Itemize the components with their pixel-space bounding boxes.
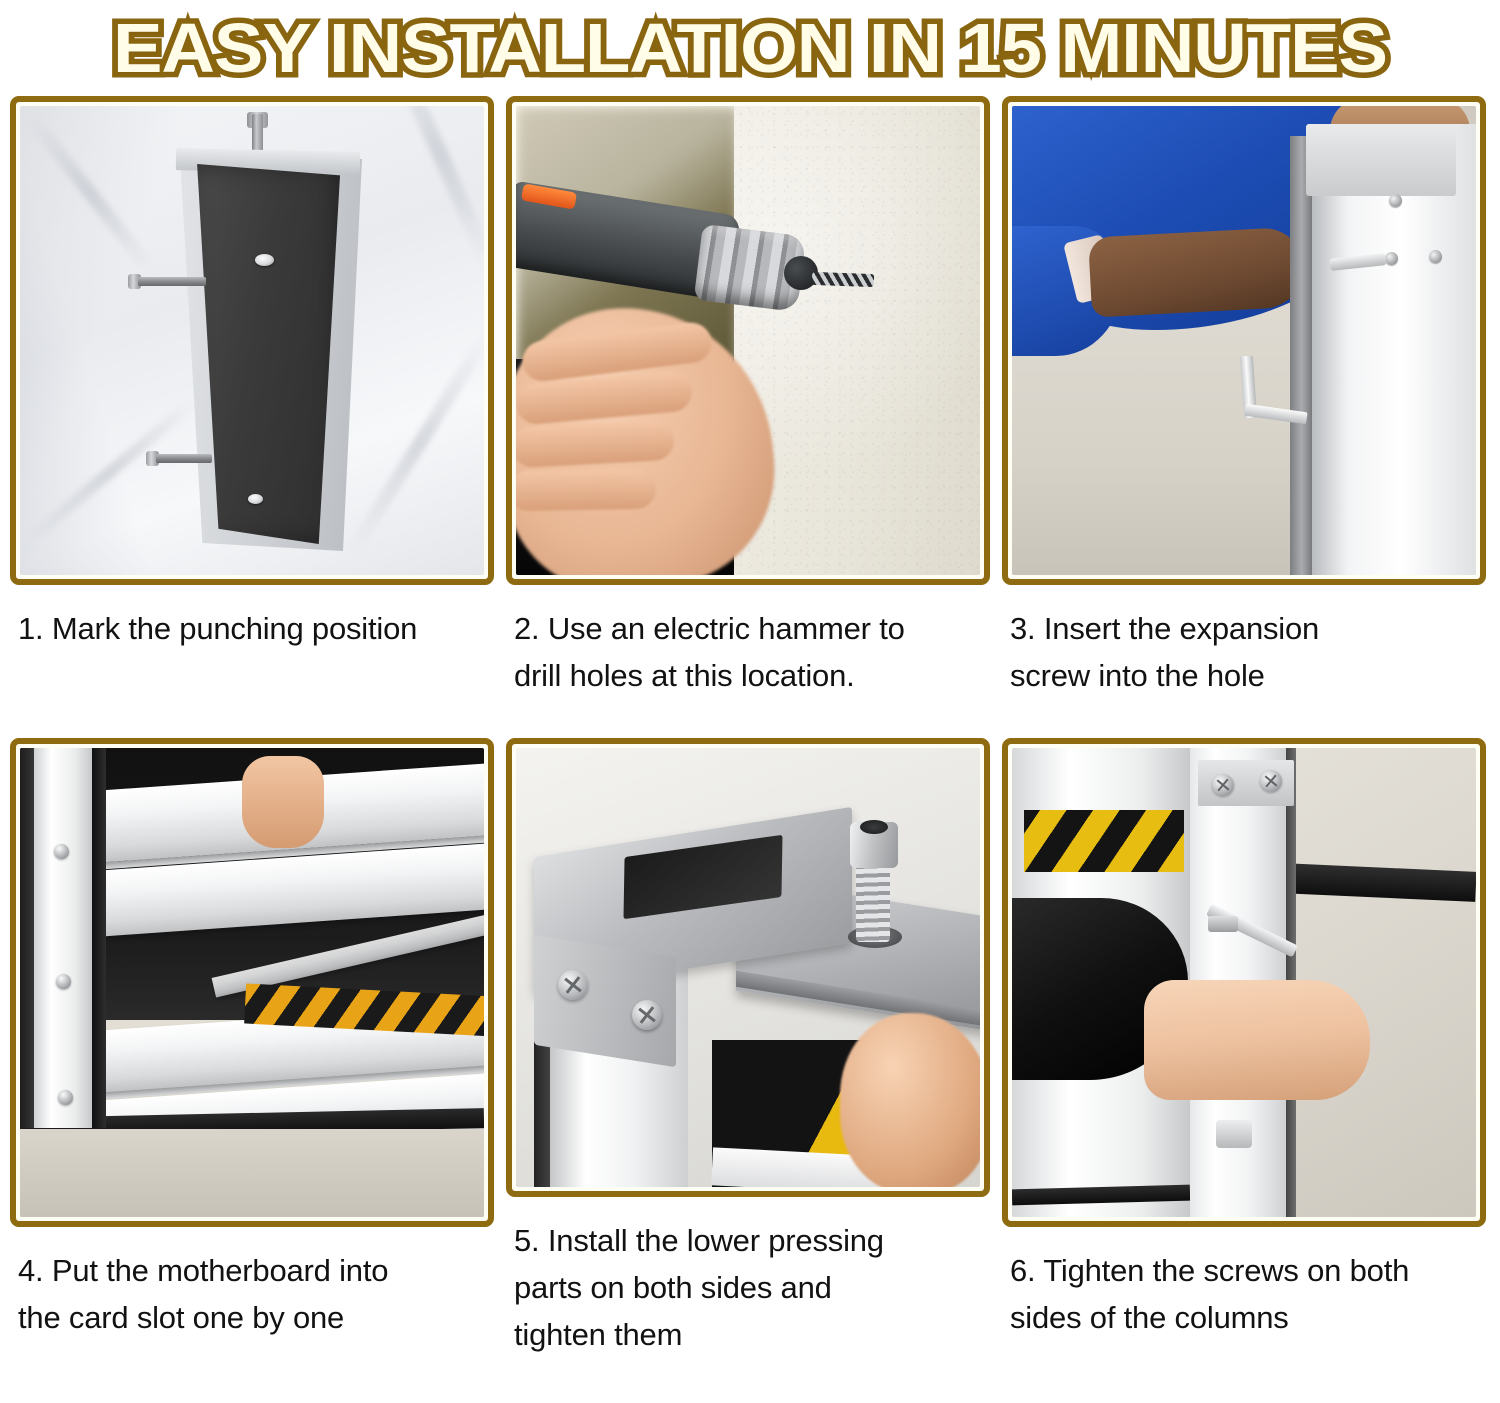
bracket-screw-icon [558, 970, 588, 1000]
mounting-hole-icon [255, 254, 274, 266]
textured-wall-surface [734, 106, 980, 575]
bolt-socket-hole-icon [860, 820, 888, 834]
column-screw-icon [56, 974, 71, 989]
column-card-slot [92, 748, 106, 1128]
step-card-3: 3. Insert the expansion screw into the h… [1002, 96, 1486, 726]
side-bolt-shaft-icon [156, 454, 212, 463]
expansion-screw-icon [1389, 194, 1402, 207]
step-card-5: 5. Install the lower pressing parts on b… [506, 738, 990, 1358]
mounting-hole-icon [248, 494, 263, 504]
hand-tightening-screw [1144, 980, 1370, 1100]
finger-icon [516, 420, 675, 468]
screwdriver-tip-icon [1208, 916, 1238, 932]
step-caption-3: 3. Insert the expansion screw into the h… [1010, 605, 1482, 699]
hazard-stripe-tape [1024, 810, 1184, 872]
drill-bit-icon [812, 272, 874, 287]
step-card-2: 2. Use an electric hammer to drill holes… [506, 96, 990, 726]
header-banner: EASY INSTALLATION IN 15 MINUTES [0, 0, 1500, 96]
step-card-4: 4. Put the motherboard into the card slo… [10, 738, 494, 1358]
hand-placing-board [242, 756, 324, 848]
pressing-bracket-face [534, 935, 676, 1067]
step-photo-5 [516, 748, 980, 1187]
column-screw-icon [54, 844, 69, 859]
bracket-screw-icon [632, 1000, 662, 1030]
step-photo-4 [20, 748, 484, 1217]
page-title: EASY INSTALLATION IN 15 MINUTES [113, 11, 1387, 85]
step-card-6: 6. Tighten the screws on both sides of t… [1002, 738, 1486, 1358]
foreground-floor [20, 1129, 484, 1217]
step-caption-6: 6. Tighten the screws on both sides of t… [1010, 1247, 1482, 1341]
step-caption-2: 2. Use an electric hammer to drill holes… [514, 605, 986, 699]
thumb-supporting-plate [840, 1013, 980, 1187]
side-bolt-shaft-icon [138, 277, 206, 286]
step-image-panel-1 [10, 96, 494, 585]
top-bolt-shaft-icon [252, 114, 263, 154]
finger-icon [516, 469, 656, 512]
step-image-panel-5 [506, 738, 990, 1197]
worker-forearm [1088, 226, 1306, 317]
step-caption-5: 5. Install the lower pressing parts on b… [514, 1217, 986, 1358]
step-photo-6 [1012, 748, 1476, 1217]
step-image-panel-3 [1002, 96, 1486, 585]
step-photo-1 [20, 106, 484, 575]
installation-steps-grid: 1. Mark the punching position [0, 96, 1500, 1358]
step-image-panel-4 [10, 738, 494, 1227]
step-image-panel-2 [506, 96, 990, 585]
column-screw-icon [58, 1090, 73, 1105]
left-column-post [34, 748, 92, 1128]
step-caption-1: 1. Mark the punching position [18, 605, 490, 652]
step-caption-4: 4. Put the motherboard into the card slo… [18, 1247, 490, 1341]
step-card-1: 1. Mark the punching position [10, 96, 494, 726]
steps-row-bottom: 4. Put the motherboard into the card slo… [10, 738, 1490, 1358]
step-photo-2 [516, 106, 980, 575]
column-top-bracket [1306, 124, 1456, 196]
expansion-screw-icon [1429, 250, 1442, 263]
column-latch-icon [1216, 1120, 1252, 1148]
expansion-screw-icon [1385, 252, 1398, 265]
column-screw-icon [1212, 774, 1234, 796]
step-image-panel-6 [1002, 738, 1486, 1227]
steps-row-top: 1. Mark the punching position [10, 96, 1490, 726]
bolt-threaded-shaft-icon [856, 860, 890, 942]
column-screw-icon [1260, 770, 1282, 792]
step-photo-3 [1012, 106, 1476, 575]
